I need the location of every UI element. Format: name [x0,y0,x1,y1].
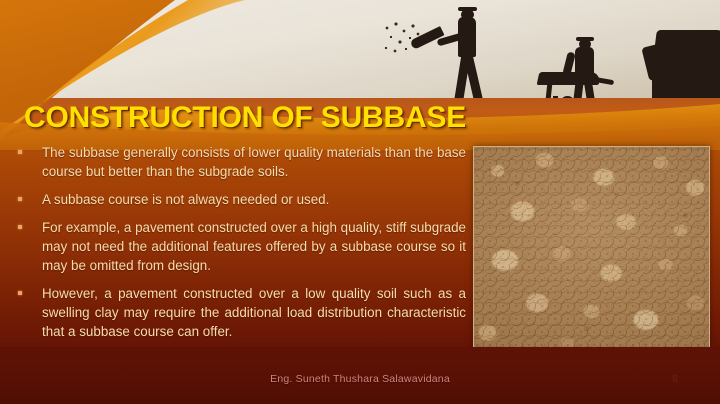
slide-page-number: 8 [672,373,678,385]
bullet-text: A subbase course is not always needed or… [42,190,466,209]
bullet-list: The subbase generally consists of lower … [14,143,466,350]
bullet-marker-icon [18,150,22,154]
list-item: For example, a pavement constructed over… [14,218,466,275]
bullet-text: The subbase generally consists of lower … [42,143,466,181]
bullet-text: For example, a pavement constructed over… [42,218,466,275]
gravel-aggregate-photo [473,146,710,349]
bullet-marker-icon [18,291,22,295]
list-item: The subbase generally consists of lower … [14,143,466,181]
gravel-shading-overlay [474,147,709,348]
slide-title: CONSTRUCTION OF SUBBASE [24,101,466,135]
bullet-marker-icon [18,225,22,229]
list-item: A subbase course is not always needed or… [14,190,466,209]
bullet-text: However, a pavement constructed over a l… [42,284,466,341]
bullet-marker-icon [18,197,22,201]
footer-credit: Eng. Suneth Thushara Salawavidana [0,373,720,385]
presentation-slide: CONSTRUCTION OF SUBBASE The subbase gene… [0,0,720,404]
list-item: However, a pavement constructed over a l… [14,284,466,341]
